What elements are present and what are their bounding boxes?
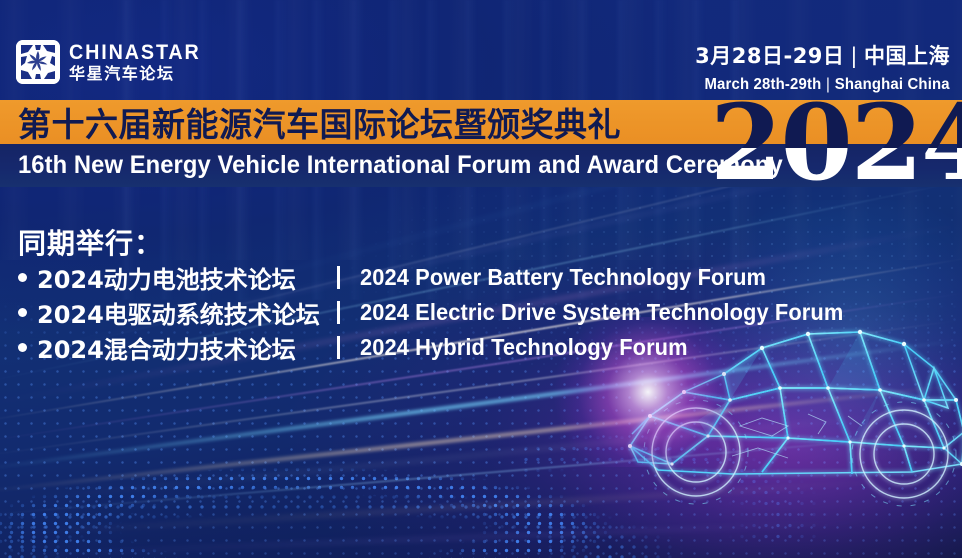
event-date-en-row: March 28th-29th|Shanghai China bbox=[705, 76, 950, 94]
list-item: 2024动力电池技术论坛 2024 Power Battery Technolo… bbox=[18, 262, 320, 292]
event-date-cn-row: 3月28日-29日|中国上海 bbox=[686, 40, 950, 70]
event-date-location: 3月28日-29日|中国上海 March 28th-29th|Shanghai … bbox=[686, 40, 950, 94]
light-streak bbox=[0, 409, 946, 506]
list-item: 2024混合动力技术论坛 2024 Hybrid Technology Foru… bbox=[18, 332, 320, 362]
date-separator-en: | bbox=[822, 76, 835, 93]
event-date-cn: 3月28日-29日 bbox=[695, 44, 844, 68]
page-title-cn: 第十六届新能源汽车国际论坛暨颁奖典礼 bbox=[18, 100, 621, 144]
forum-name-cn: 2024电驱动系统技术论坛 bbox=[37, 295, 320, 330]
light-streak bbox=[0, 383, 962, 496]
chinastar-starburst-logo-icon bbox=[16, 40, 60, 84]
event-date-en: March 28th-29th bbox=[705, 76, 822, 93]
brand-logo: CHINASTAR 华星汽车论坛 bbox=[16, 40, 209, 84]
bullet-icon bbox=[18, 273, 27, 282]
event-banner: CHINASTAR 华星汽车论坛 3月28日-29日|中国上海 March 28… bbox=[0, 0, 962, 558]
concurrent-events-label: 同期举行： bbox=[18, 222, 163, 262]
forum-separator bbox=[337, 301, 340, 324]
event-location-cn: 中国上海 bbox=[864, 44, 950, 68]
brand-name-en: CHINASTAR bbox=[69, 42, 201, 63]
bullet-icon bbox=[18, 343, 27, 352]
page-title-en: 16th New Energy Vehicle International Fo… bbox=[18, 144, 783, 187]
bullet-icon bbox=[18, 308, 27, 317]
forum-name-en: 2024 Electric Drive System Technology Fo… bbox=[360, 299, 843, 326]
forum-name-en: 2024 Power Battery Technology Forum bbox=[360, 264, 766, 291]
event-location-en: Shanghai China bbox=[835, 76, 950, 93]
date-separator-cn: | bbox=[844, 44, 864, 68]
list-item: 2024电驱动系统技术论坛 2024 Electric Drive System… bbox=[18, 297, 320, 327]
concurrent-forum-list: 2024动力电池技术论坛 2024 Power Battery Technolo… bbox=[18, 262, 320, 367]
brand-name-cn: 华星汽车论坛 bbox=[69, 66, 209, 82]
forum-separator bbox=[337, 266, 340, 289]
forum-name-cn: 2024混合动力技术论坛 bbox=[37, 330, 296, 365]
forum-separator bbox=[337, 336, 340, 359]
forum-name-en: 2024 Hybrid Technology Forum bbox=[360, 334, 688, 361]
forum-name-cn: 2024动力电池技术论坛 bbox=[37, 260, 296, 295]
